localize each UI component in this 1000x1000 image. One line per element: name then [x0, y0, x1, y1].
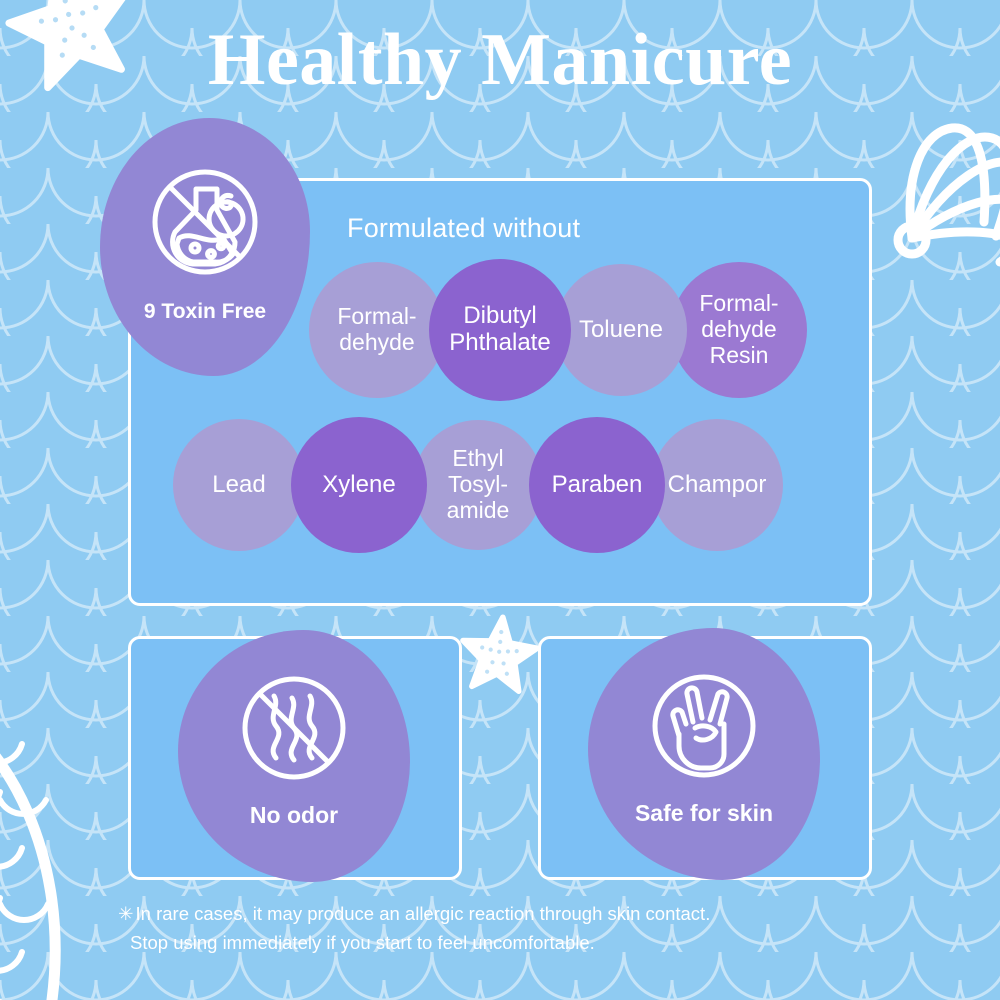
chemical-bubble: Xylene [291, 417, 427, 553]
chemical-bubble-label: Toluene [575, 317, 667, 344]
chemical-bubble: Formal-dehydeResin [671, 262, 807, 398]
chemical-bubble: Toluene [555, 264, 687, 396]
chemical-bubble: Paraben [529, 417, 665, 553]
chemical-bubble-label: Champor [664, 472, 771, 499]
chemical-bubble-row-2: LeadXyleneEthylTosyl-amideParabenChampor [131, 417, 869, 553]
chemical-bubble: Champor [651, 419, 783, 551]
toxin-free-badge: 9 Toxin Free [100, 118, 310, 376]
chemical-bubble: Lead [173, 419, 305, 551]
chemical-bubble-label: Xylene [318, 472, 399, 499]
chemical-bubble-label: DibutylPhthalate [445, 303, 554, 357]
footnote: ✳In rare cases, it may produce an allerg… [118, 900, 918, 957]
chemical-bubble: Formal-dehyde [309, 262, 445, 398]
footnote-line-1: In rare cases, it may produce an allergi… [136, 903, 711, 924]
footnote-marker: ✳ [118, 903, 134, 924]
chemical-bubble-label: Formal-dehyde [333, 304, 420, 356]
no-chemicals-flask-icon [141, 162, 269, 290]
chemical-bubble: DibutylPhthalate [429, 259, 571, 401]
chemical-bubble: EthylTosyl-amide [413, 420, 543, 550]
peace-hand-icon [640, 662, 768, 790]
footnote-line-2: Stop using immediately if you start to f… [118, 929, 918, 958]
page-title: Healthy Manicure [0, 18, 1000, 103]
toxin-free-label: 9 Toxin Free [100, 300, 310, 324]
no-odor-icon [230, 664, 358, 792]
no-odor-label: No odor [178, 802, 410, 829]
chemical-bubble-label: EthylTosyl-amide [443, 446, 514, 523]
chemical-bubble-label: Paraben [548, 472, 647, 499]
safe-for-skin-label: Safe for skin [588, 800, 820, 827]
card-heading: Formulated without [347, 213, 580, 244]
chemical-bubble-label: Formal-dehydeResin [695, 291, 782, 368]
chemical-bubble-label: Lead [208, 472, 269, 499]
